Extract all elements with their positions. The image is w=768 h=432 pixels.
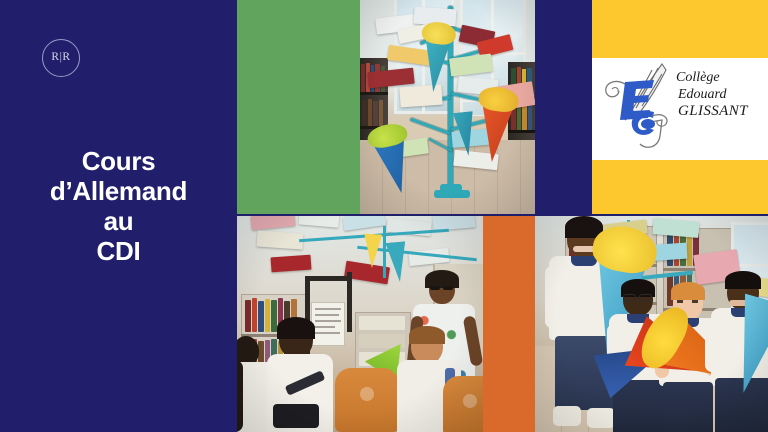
navy-gap-block <box>535 0 592 214</box>
title-line-4: CDI <box>12 236 225 266</box>
photo-teacher-with-pupils <box>237 216 483 432</box>
green-block <box>237 0 360 214</box>
title-line-3: au <box>12 206 225 236</box>
page-title: Cours d’Allemand au CDI <box>0 146 237 267</box>
school-name-line-1: Collège <box>676 70 766 87</box>
left-title-panel: R|R Cours d’Allemand au CDI <box>0 0 237 432</box>
slide-canvas: Collège Edouard GLISSANT R|R Cours d’All… <box>0 0 768 432</box>
photo-schultuete-tree <box>360 0 535 214</box>
photo-pupils-holding-cones <box>535 216 768 432</box>
orange-block <box>483 216 535 432</box>
circle-monogram-icon: R|R <box>42 39 80 77</box>
school-logo-text: Collège Edouard GLISSANT <box>676 70 766 121</box>
school-logo-band: Collège Edouard GLISSANT <box>592 58 768 160</box>
school-name-line-2: Edouard <box>678 87 766 104</box>
school-name-line-3: GLISSANT <box>678 103 766 121</box>
brand-mark-label: R|R <box>51 52 70 64</box>
title-line-2: d’Allemand <box>12 176 225 206</box>
title-line-1: Cours <box>12 146 225 176</box>
